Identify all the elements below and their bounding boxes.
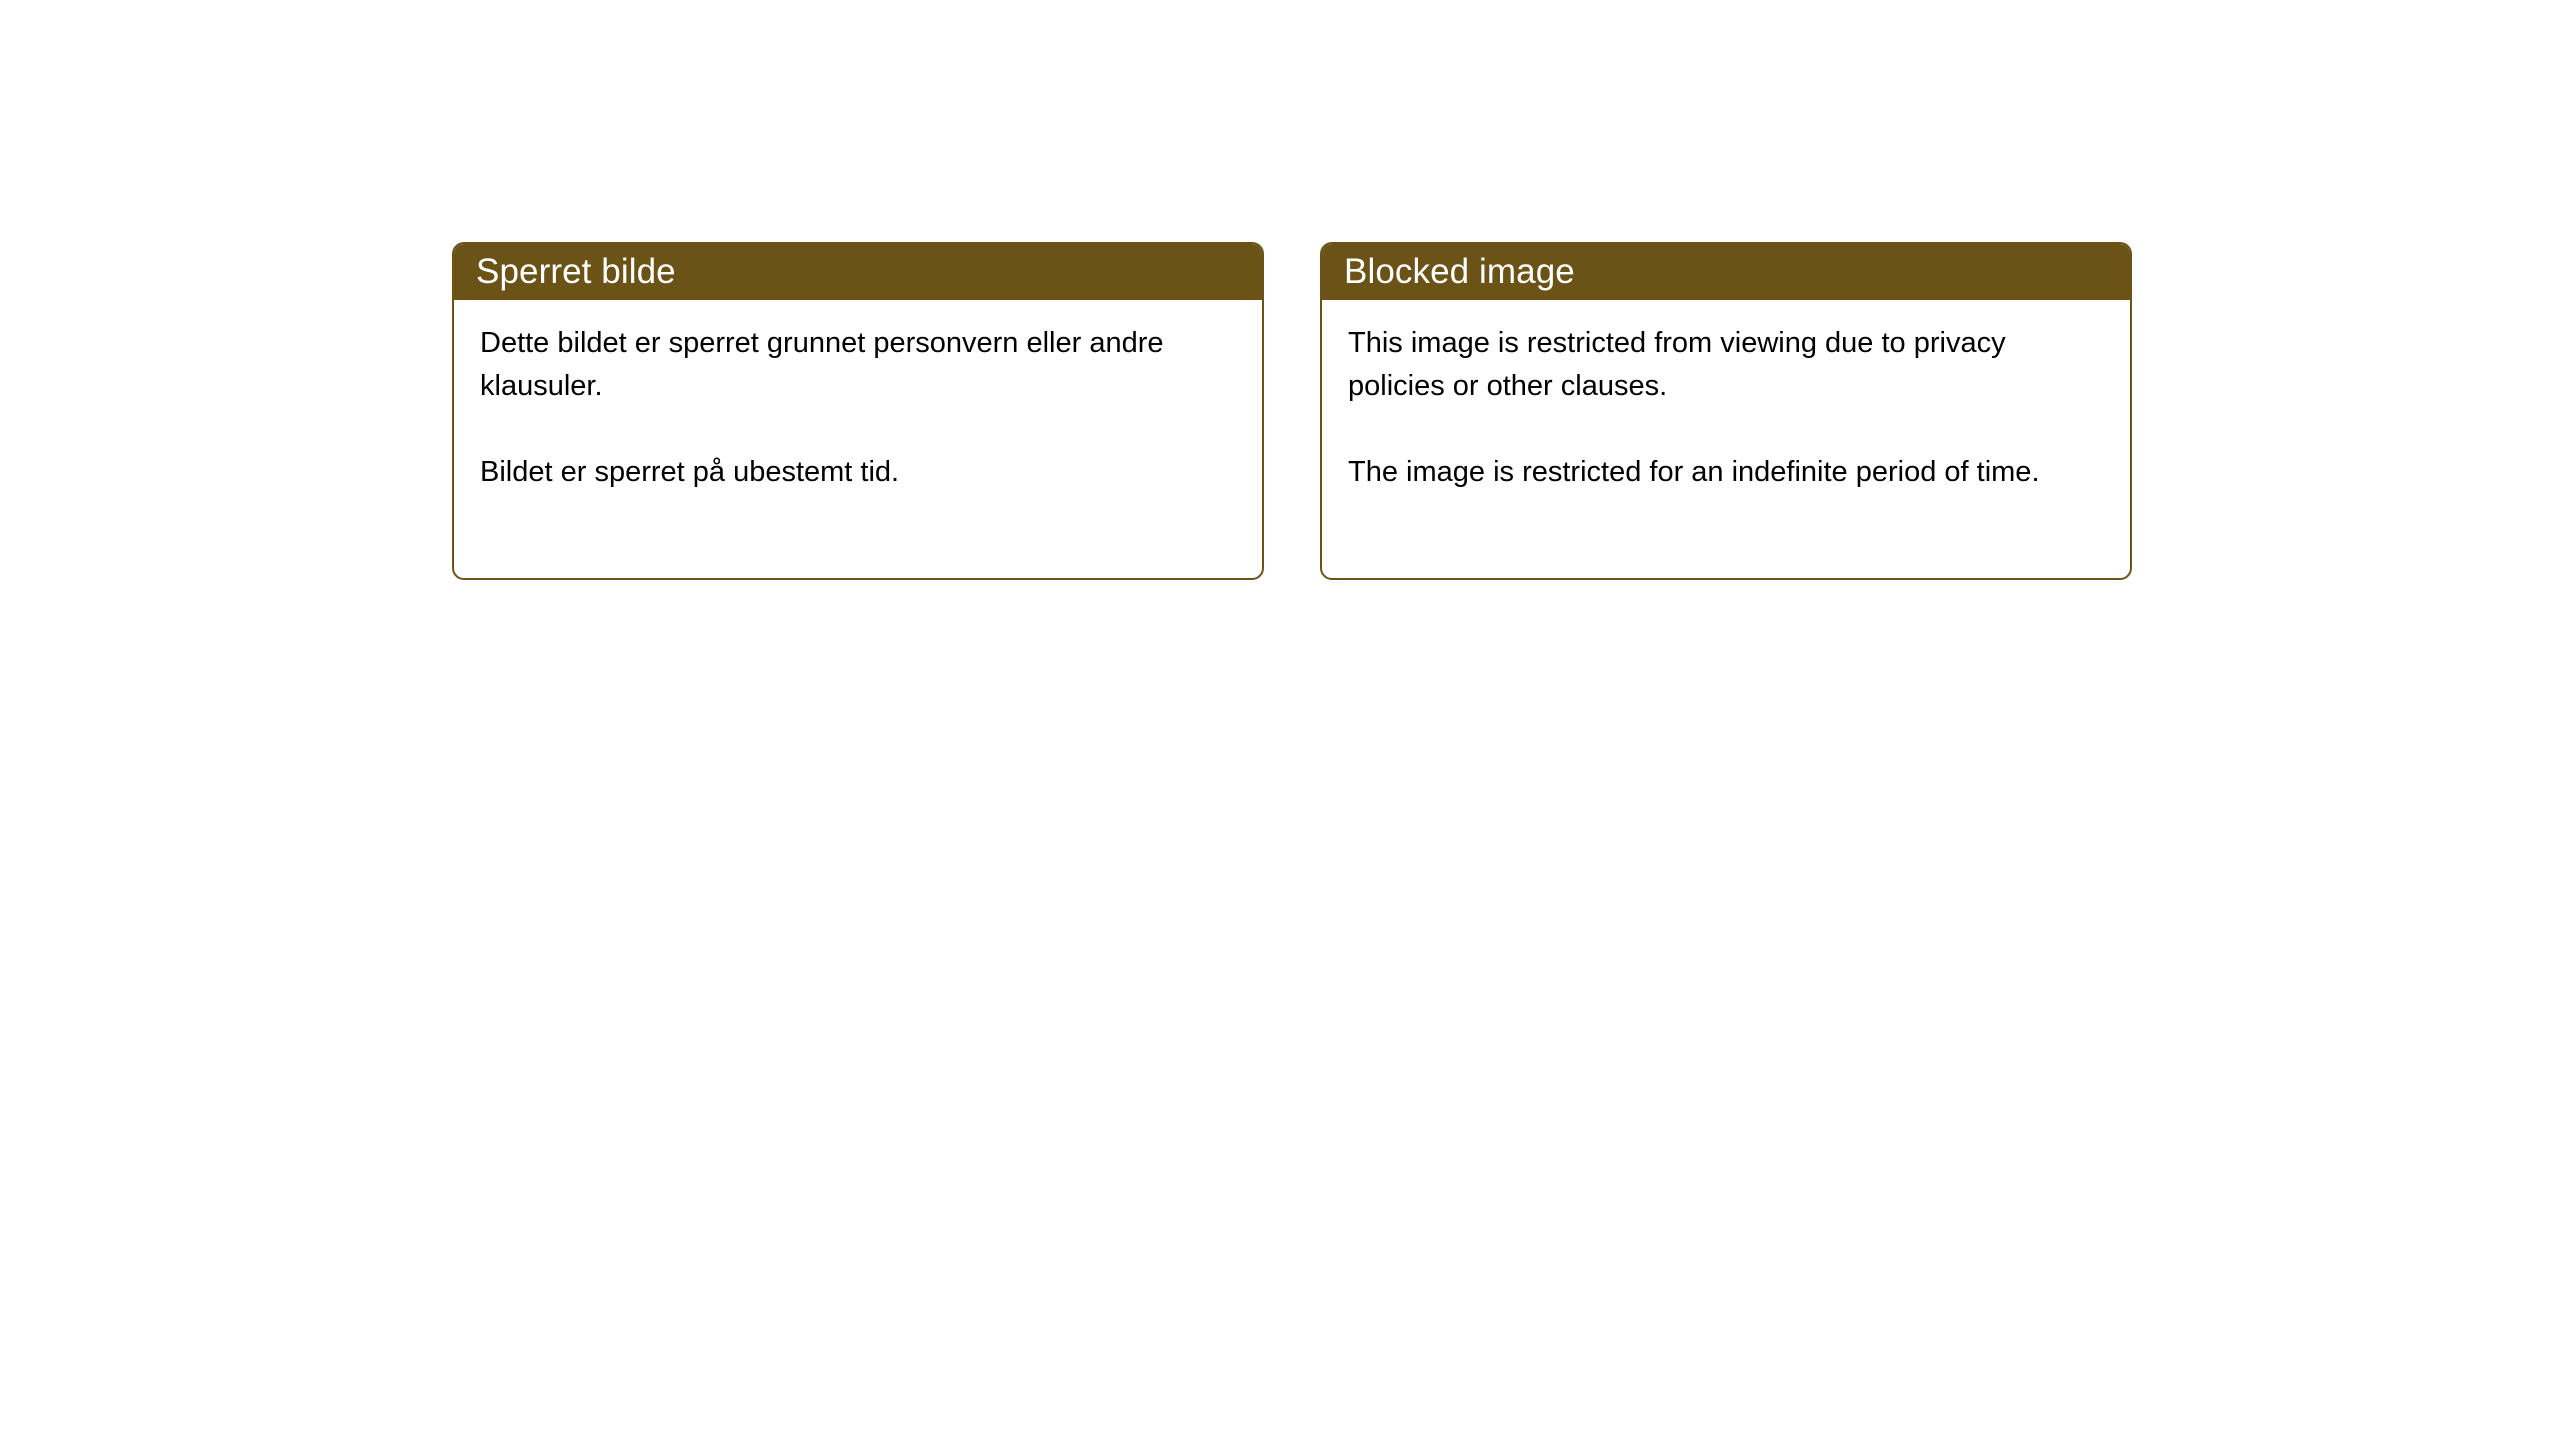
blocked-image-notice-stage: Sperret bilde Dette bildet er sperret gr… [0, 0, 2560, 1440]
card-title-english: Blocked image [1344, 254, 1575, 289]
card-paragraph-secondary-norwegian: Bildet er sperret på ubestemt tid. [480, 451, 1236, 494]
blocked-image-card-english: Blocked image This image is restricted f… [1320, 242, 2132, 580]
blocked-image-card-norwegian: Sperret bilde Dette bildet er sperret gr… [452, 242, 1264, 580]
card-body-norwegian: Dette bildet er sperret grunnet personve… [454, 300, 1262, 494]
card-body-english: This image is restricted from viewing du… [1322, 300, 2130, 494]
card-paragraph-primary-english: This image is restricted from viewing du… [1348, 322, 2104, 408]
card-header-english: Blocked image [1320, 242, 2132, 300]
card-paragraph-primary-norwegian: Dette bildet er sperret grunnet personve… [480, 322, 1236, 408]
card-paragraph-secondary-english: The image is restricted for an indefinit… [1348, 451, 2104, 494]
card-header-norwegian: Sperret bilde [452, 242, 1264, 300]
card-title-norwegian: Sperret bilde [476, 254, 676, 289]
